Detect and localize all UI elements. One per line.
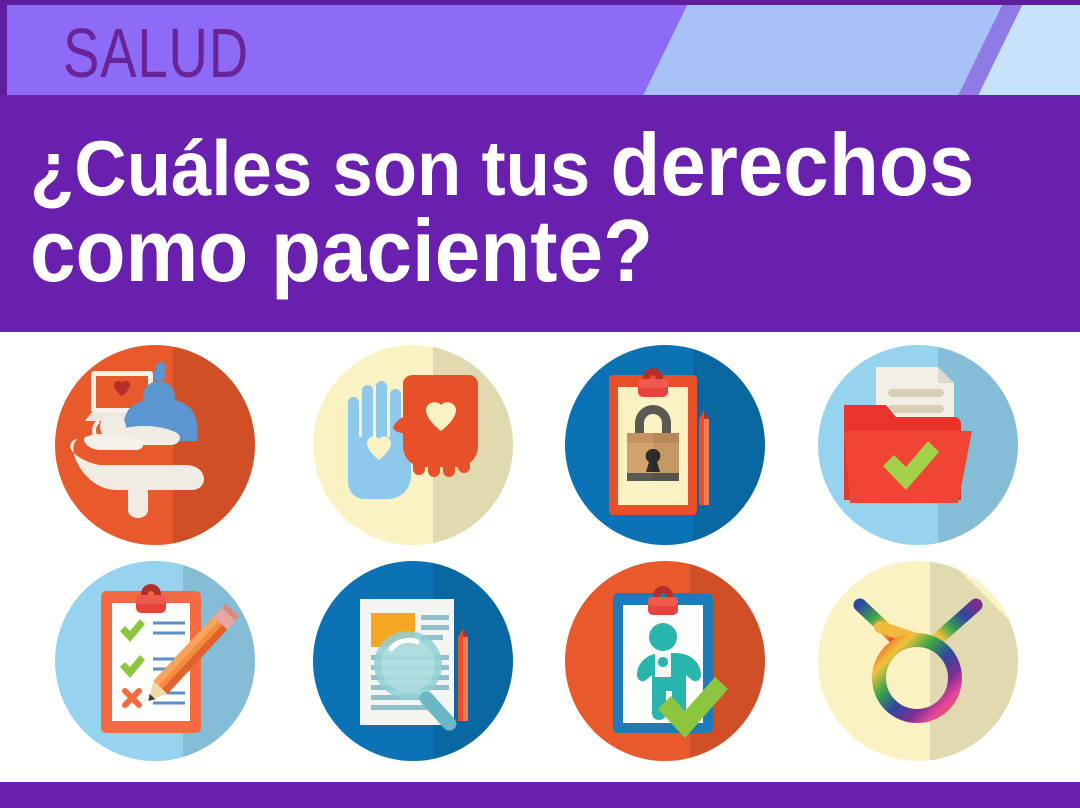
clipboard-checklist-pencil-icon — [55, 561, 255, 761]
title-bold-part: derechos — [610, 115, 974, 214]
clipboard-padlock-icon — [565, 345, 765, 545]
icon-cell-checklist — [55, 561, 255, 761]
icon-cell-caring-hands — [313, 345, 513, 545]
two-hands-with-hearts-icon — [313, 345, 513, 545]
page-title-line-1: ¿Cuáles son tus derechos — [30, 122, 974, 211]
icon-cell-confidentiality — [565, 345, 765, 545]
folder-document-check-icon — [818, 345, 1018, 545]
icon-cell-patient-approved — [565, 561, 765, 761]
clipboard-person-check-icon — [565, 561, 765, 761]
kicker-label: SALUD — [63, 8, 249, 95]
icon-cell-patient-care — [55, 345, 255, 545]
page-title-line-2: como paciente? — [30, 208, 653, 297]
icon-circle-review-document — [313, 561, 513, 761]
transgender-symbol-icon — [818, 561, 1018, 761]
icon-circle-gender-identity — [818, 561, 1018, 761]
icon-cell-records-access — [818, 345, 1018, 545]
icon-cell-review-document — [313, 561, 513, 761]
icon-circle-caring-hands — [313, 345, 513, 545]
icon-circle-records-access — [818, 345, 1018, 545]
icon-cell-gender-identity — [818, 561, 1018, 761]
title-light-part: ¿Cuáles son tus — [30, 124, 610, 212]
title-band: ¿Cuáles son tus derechos como paciente? — [0, 95, 1080, 332]
kicker-band: SALUD — [0, 0, 1080, 95]
icon-circle-checklist — [55, 561, 255, 761]
health-rights-infographic: SALUD ¿Cuáles son tus derechos como paci… — [0, 0, 1080, 808]
title-line-2-text: como paciente? — [30, 201, 653, 300]
icon-circle-confidentiality — [565, 345, 765, 545]
kicker-band-inner: SALUD — [7, 5, 1080, 95]
document-magnifier-pencil-icon — [313, 561, 513, 761]
bottom-accent-bar — [0, 782, 1080, 808]
icon-circle-patient-approved — [565, 561, 765, 761]
patient-in-hand-with-doctor-icon — [55, 345, 255, 545]
icon-circle-patient-care — [55, 345, 255, 545]
icon-grid — [0, 336, 1080, 782]
